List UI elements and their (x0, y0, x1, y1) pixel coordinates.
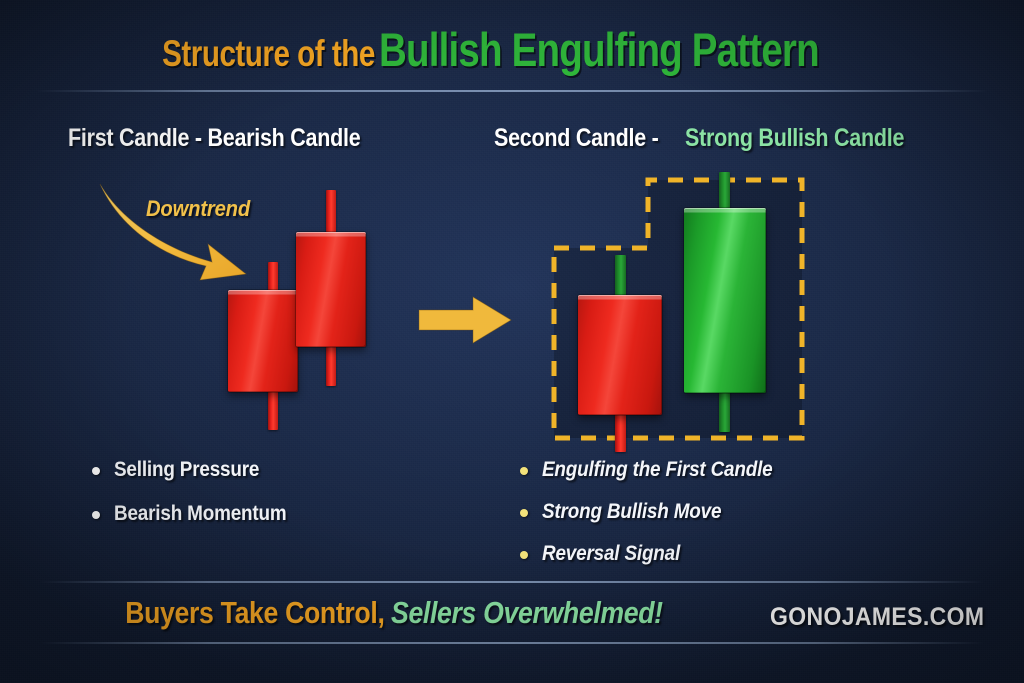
engulf-candle-1-body-bearish (578, 295, 662, 415)
bullet-dot-icon (92, 467, 100, 475)
bullet-dot-icon (92, 511, 100, 519)
site-url-label: GONOJAMES.COM (770, 603, 984, 632)
divider-top (36, 90, 988, 92)
footer-tagline: Buyers Take Control,Sellers Overwhelmed! (0, 595, 790, 631)
title-prefix: Structure of the (162, 33, 375, 75)
bullet-dot-icon (520, 467, 528, 475)
page-title: Structure of theBullish Engulfing Patter… (0, 22, 1024, 77)
engulf-candle-2-body-bullish (684, 208, 766, 393)
list-item: Strong Bullish Move (516, 500, 798, 524)
section-heading-left: First Candle - Bearish Candle (68, 124, 408, 153)
bullet-list-right: Engulfing the First Candle Strong Bullis… (516, 458, 798, 584)
engulf-candle-1-lower-wick (615, 410, 626, 452)
section-heading-left-label: First Candle - Bearish Candle (68, 124, 360, 153)
list-item: Engulfing the First Candle (516, 458, 798, 482)
site-url[interactable]: GONOJAMES.COM (770, 603, 1003, 632)
list-item: Selling Pressure (88, 458, 306, 482)
section-heading-right-accent: Strong Bullish Candle (685, 124, 904, 153)
bullet-dot-icon (520, 509, 528, 517)
list-item-label: Engulfing the First Candle (542, 458, 773, 482)
list-item-label: Reversal Signal (542, 542, 680, 566)
title-main: Bullish Engulfing Pattern (379, 22, 819, 77)
downtrend-annotation: Downtrend (146, 196, 259, 222)
list-item: Bearish Momentum (88, 502, 306, 526)
infographic-canvas: Structure of theBullish Engulfing Patter… (0, 0, 1024, 683)
candle-1-body-bearish (228, 290, 298, 392)
divider-footer-top (40, 581, 984, 583)
footer-tagline-green: Sellers Overwhelmed! (391, 595, 663, 631)
list-item-label: Selling Pressure (114, 458, 259, 482)
section-heading-right-prefix: Second Candle - (494, 124, 659, 153)
section-heading-right: Second Candle - Strong Bullish Candle (494, 124, 940, 153)
bullet-dot-icon (520, 551, 528, 559)
list-item-label: Strong Bullish Move (542, 500, 721, 524)
divider-footer-bottom (40, 642, 984, 644)
right-arrow-icon (415, 293, 515, 347)
list-item-label: Bearish Momentum (114, 502, 287, 526)
footer-tagline-gold: Buyers Take Control, (125, 595, 384, 631)
list-item: Reversal Signal (516, 542, 798, 566)
bullet-list-left: Selling Pressure Bearish Momentum (88, 458, 306, 546)
candle-2-body-bearish (296, 232, 366, 347)
engulf-candle-1-wick (615, 255, 626, 300)
downtrend-annotation-label: Downtrend (146, 196, 250, 222)
